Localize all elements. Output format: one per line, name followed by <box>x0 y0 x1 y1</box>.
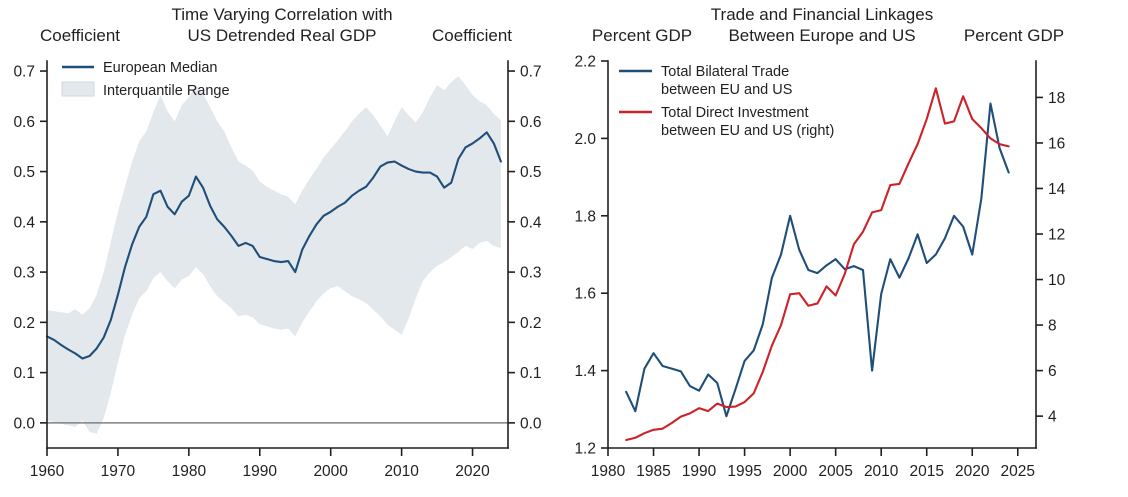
xtick-label-0: 1960 <box>30 463 65 480</box>
ytick-label-right-3: 10 <box>1048 272 1066 289</box>
xtick-label-7: 2015 <box>909 463 943 480</box>
ytick-label-right-1: 0.1 <box>520 365 542 382</box>
xtick-label-4: 2000 <box>313 463 348 480</box>
ytick-label-right-0: 0.0 <box>520 415 542 432</box>
left-chart-title-line1: Time Varying Correlation with <box>171 5 392 24</box>
xtick-label-6: 2010 <box>864 463 899 480</box>
ytick-label-left-4: 2.0 <box>574 131 596 148</box>
ytick-label-left-1: 1.4 <box>574 363 596 380</box>
ytick-label-right-3: 0.3 <box>520 265 542 282</box>
ytick-label-right-1: 6 <box>1048 363 1057 380</box>
xtick-label-9: 2025 <box>1001 463 1035 480</box>
xtick-label-0: 1980 <box>591 463 626 480</box>
ytick-label-left-0: 1.2 <box>574 441 596 458</box>
ytick-label-right-5: 14 <box>1048 181 1066 198</box>
legend-label-direct-investment-line1: Total Direct Investment <box>661 105 808 121</box>
ytick-label-right-2: 0.2 <box>520 315 542 332</box>
ytick-label-left-6: 0.6 <box>13 114 35 131</box>
xtick-label-2: 1990 <box>682 463 717 480</box>
ytick-label-left-5: 0.5 <box>13 164 35 181</box>
left-chart-title-line2: US Detrended Real GDP <box>188 26 377 45</box>
direct-investment-line <box>626 88 1008 440</box>
ytick-label-left-3: 0.3 <box>13 265 35 282</box>
right-chart-svg: Trade and Financial LinkagesBetween Euro… <box>564 0 1128 497</box>
ytick-label-left-3: 1.8 <box>574 208 596 225</box>
left-chart-svg: Time Varying Correlation withUS Detrende… <box>0 0 564 497</box>
ytick-label-right-7: 0.7 <box>520 64 542 81</box>
legend-label-european-median: European Median <box>103 60 217 76</box>
panel-left-correlation: Time Varying Correlation withUS Detrende… <box>0 0 564 497</box>
ytick-label-right-7: 18 <box>1048 90 1065 107</box>
ytick-label-left-7: 0.7 <box>13 64 35 81</box>
ytick-label-right-6: 0.6 <box>520 114 542 131</box>
xtick-label-3: 1995 <box>727 463 761 480</box>
ytick-label-right-2: 8 <box>1048 318 1057 335</box>
figure-two-panel-chart: Time Varying Correlation withUS Detrende… <box>0 0 1128 497</box>
xtick-label-1: 1970 <box>101 463 136 480</box>
right-chart-title-line1: Trade and Financial Linkages <box>711 5 933 24</box>
xtick-label-5: 2005 <box>818 463 852 480</box>
right-chart-title-line2: Between Europe and US <box>728 26 915 45</box>
xtick-label-8: 2020 <box>955 463 990 480</box>
legend-label-direct-investment-line2: between EU and US (right) <box>661 123 834 139</box>
panel-right-linkages: Trade and Financial LinkagesBetween Euro… <box>564 0 1128 497</box>
right-panel-right-unit-label: Percent GDP <box>964 26 1064 45</box>
ytick-label-right-4: 12 <box>1048 227 1065 244</box>
legend-label-bilateral-trade-line2: between EU and US <box>661 82 792 98</box>
ytick-label-left-0: 0.0 <box>13 415 35 432</box>
xtick-label-4: 2000 <box>773 463 808 480</box>
legend-swatch-interquantile-range <box>62 82 94 96</box>
xtick-label-6: 2020 <box>455 463 490 480</box>
ytick-label-left-4: 0.4 <box>13 214 35 231</box>
xtick-label-5: 2010 <box>384 463 419 480</box>
ytick-label-right-5: 0.5 <box>520 164 542 181</box>
right-panel-left-unit-label: Percent GDP <box>592 26 692 45</box>
legend-label-bilateral-trade-line1: Total Bilateral Trade <box>661 64 789 80</box>
xtick-label-2: 1980 <box>172 463 207 480</box>
ytick-label-left-2: 1.6 <box>574 286 596 303</box>
legend-label-interquantile-range: Interquantile Range <box>103 83 230 99</box>
left-axis-unit-label: Coefficient <box>40 26 120 45</box>
xtick-label-1: 1985 <box>636 463 670 480</box>
interquantile-range-band <box>47 76 501 434</box>
ytick-label-right-0: 4 <box>1048 409 1057 426</box>
xtick-label-3: 1990 <box>243 463 278 480</box>
ytick-label-left-1: 0.1 <box>13 365 35 382</box>
bilateral-trade-line <box>626 104 1008 417</box>
ytick-label-left-2: 0.2 <box>13 315 35 332</box>
ytick-label-right-4: 0.4 <box>520 214 542 231</box>
ytick-label-right-6: 16 <box>1048 135 1065 152</box>
right-axis-unit-label: Coefficient <box>432 26 512 45</box>
ytick-label-left-5: 2.2 <box>574 54 596 71</box>
